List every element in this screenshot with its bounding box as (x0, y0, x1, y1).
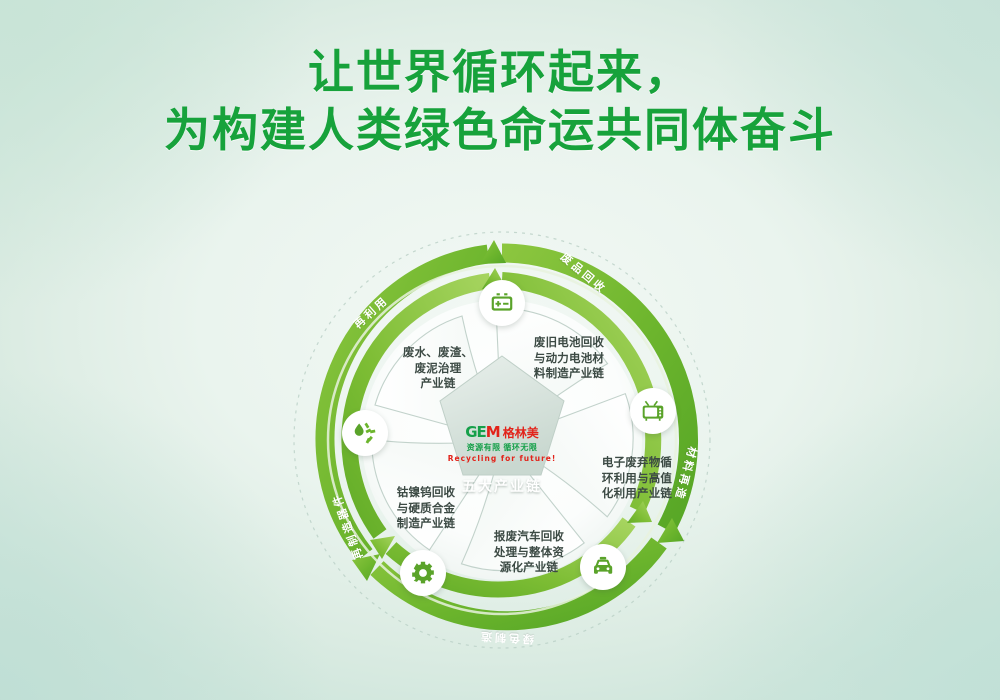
segment-ewaste-badge[interactable] (630, 388, 676, 434)
gear-icon (410, 560, 436, 586)
segment-water-badge[interactable] (342, 410, 388, 456)
gem-logo: GEM 格林美 资源有限 循环无限 Recycling for future! (447, 423, 557, 463)
page-title: 让世界循环起来， 为构建人类绿色命运共同体奋斗 (0, 44, 1000, 160)
ring-label-green-manufacture: 绿色制造 (478, 629, 535, 648)
logo-slogan-en: Recycling for future! (447, 454, 557, 463)
logo-chinese-name: 格林美 (503, 424, 539, 441)
segment-metals-badge[interactable] (400, 550, 446, 596)
car-icon (590, 554, 616, 580)
segment-battery-label: 废旧电池回收 与动力电池材 料制造产业链 (510, 336, 628, 383)
logo-latin: GEM (465, 423, 500, 441)
battery-icon (489, 290, 515, 316)
water-recycle-icon (352, 420, 378, 446)
segment-battery-badge[interactable] (479, 280, 525, 326)
segment-vehicle-badge[interactable] (580, 544, 626, 590)
segment-vehicle-label: 报废汽车回收 处理与整体资 源化产业链 (474, 530, 584, 577)
television-icon (640, 398, 666, 424)
center-label: 五大产业链 (447, 476, 557, 496)
circular-industry-chain-diagram: 废旧电池回收 与动力电池材 料制造产业链 电子废弃物循 环利用与高值 化利用产业… (292, 218, 712, 658)
page-title-line-1: 让世界循环起来， (0, 44, 1000, 100)
logo-slogan-cn: 资源有限 循环无限 (447, 442, 557, 453)
page-title-line-2: 为构建人类绿色命运共同体奋斗 (0, 100, 1000, 160)
segment-water-label: 废水、废渣、 废泥治理 产业链 (380, 346, 496, 393)
